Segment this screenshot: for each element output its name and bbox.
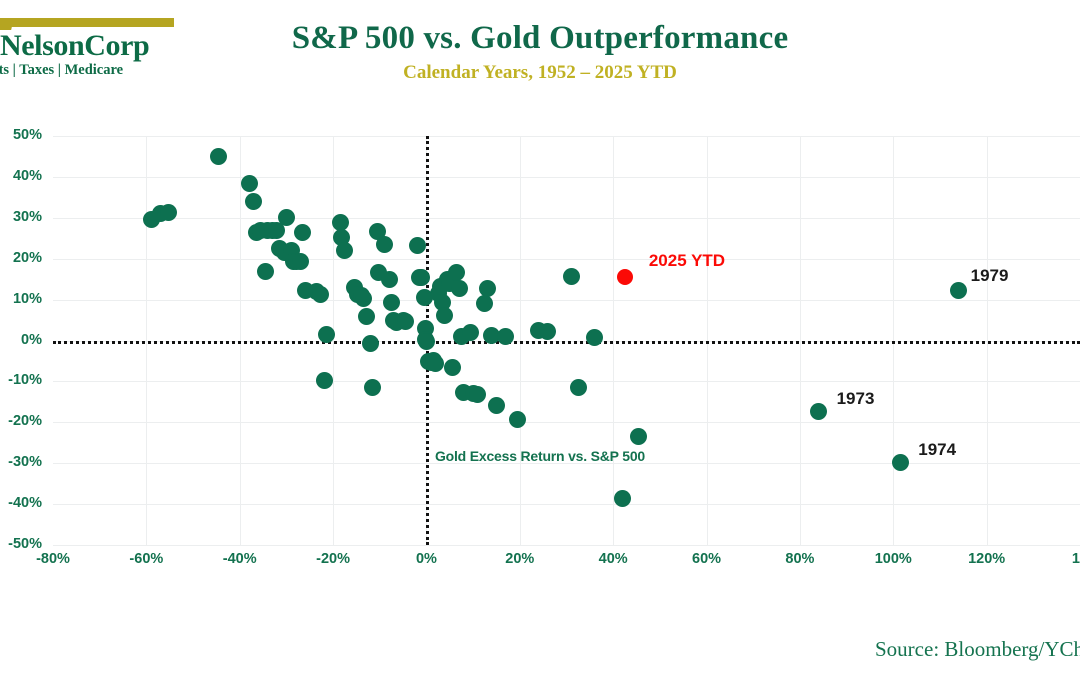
point-annotation-2025-ytd: 2025 YTD: [649, 251, 725, 271]
data-point[interactable]: [278, 209, 295, 226]
data-point[interactable]: [318, 326, 335, 343]
data-point[interactable]: [160, 204, 177, 221]
point-annotation-1979: 1979: [971, 266, 1009, 286]
gridline-horizontal: [53, 259, 1080, 260]
data-point[interactable]: [294, 224, 311, 241]
data-point-highlight[interactable]: [617, 269, 633, 285]
data-point[interactable]: [950, 282, 967, 299]
y-axis-tick-label: 10%: [0, 291, 42, 307]
data-point[interactable]: [509, 411, 526, 428]
data-point[interactable]: [364, 379, 381, 396]
chart-subtitle: Calendar Years, 1952 – 2025 YTD: [0, 62, 1080, 84]
x-axis-tick-label: 80%: [760, 551, 840, 567]
y-axis-tick-label: -50%: [0, 536, 42, 552]
y-axis-tick-label: -40%: [0, 495, 42, 511]
y-axis-tick-label: -10%: [0, 372, 42, 388]
y-axis-tick-label: 0%: [0, 332, 42, 348]
data-point[interactable]: [355, 290, 372, 307]
gridline-horizontal: [53, 136, 1080, 137]
data-point[interactable]: [245, 193, 262, 210]
data-point[interactable]: [336, 242, 353, 259]
data-point[interactable]: [451, 280, 468, 297]
data-point[interactable]: [488, 397, 505, 414]
data-point[interactable]: [427, 355, 444, 372]
data-point[interactable]: [810, 403, 827, 420]
data-point[interactable]: [376, 236, 393, 253]
data-point[interactable]: [418, 333, 435, 350]
x-axis-tick-label: -40%: [200, 551, 280, 567]
data-point[interactable]: [444, 359, 461, 376]
x-axis-tick-label: -20%: [293, 551, 373, 567]
gridline-horizontal: [53, 545, 1080, 546]
source-attribution: Source: Bloomberg/YCha: [875, 637, 1080, 662]
x-axis-tick-label: 120%: [947, 551, 1027, 567]
x-axis-tick-label: -80%: [13, 551, 93, 567]
data-point[interactable]: [381, 271, 398, 288]
data-point[interactable]: [409, 237, 426, 254]
gridline-horizontal: [53, 177, 1080, 178]
x-axis-tick-label: 20%: [480, 551, 560, 567]
data-point[interactable]: [436, 307, 453, 324]
y-axis-tick-label: 30%: [0, 209, 42, 225]
y-axis-tick-label: 20%: [0, 250, 42, 266]
gridline-horizontal: [53, 218, 1080, 219]
y-axis-tick-label: -20%: [0, 413, 42, 429]
x-axis-tick-label: 60%: [667, 551, 747, 567]
gridline-horizontal: [53, 504, 1080, 505]
data-point[interactable]: [358, 308, 375, 325]
data-point[interactable]: [448, 264, 465, 281]
x-axis-tick-label: 0%: [386, 551, 466, 567]
point-annotation-1973: 1973: [837, 389, 875, 409]
data-point[interactable]: [614, 490, 631, 507]
y-axis-tick-label: 40%: [0, 168, 42, 184]
gridline-horizontal: [53, 422, 1080, 423]
chart-title: S&P 500 vs. Gold Outperformance: [0, 20, 1080, 57]
data-point[interactable]: [292, 253, 309, 270]
x-axis-tick-label: 40%: [573, 551, 653, 567]
gridline-horizontal: [53, 381, 1080, 382]
data-point[interactable]: [476, 295, 493, 312]
x-axis-tick-label: 100%: [853, 551, 933, 567]
data-point[interactable]: [563, 268, 580, 285]
data-point[interactable]: [383, 294, 400, 311]
data-point[interactable]: [241, 175, 258, 192]
data-point[interactable]: [312, 286, 329, 303]
data-point[interactable]: [469, 386, 486, 403]
data-point[interactable]: [570, 379, 587, 396]
y-axis-tick-label: 50%: [0, 127, 42, 143]
x-axis-tick-label: -60%: [106, 551, 186, 567]
data-point[interactable]: [586, 329, 603, 346]
data-point[interactable]: [539, 323, 556, 340]
data-point[interactable]: [479, 280, 496, 297]
scatter-plot-area: 50%40%30%20%10%0%-10%-20%-30%-40%-50%-80…: [53, 136, 1080, 545]
data-point[interactable]: [397, 313, 414, 330]
x-axis-title: Gold Excess Return vs. S&P 500: [0, 448, 1080, 464]
gridline-horizontal: [53, 300, 1080, 301]
data-point[interactable]: [316, 372, 333, 389]
data-point[interactable]: [362, 335, 379, 352]
data-point[interactable]: [257, 263, 274, 280]
data-point[interactable]: [630, 428, 647, 445]
zero-line-horizontal: [53, 341, 1080, 344]
x-axis-tick-label: 14: [1040, 551, 1080, 567]
data-point[interactable]: [462, 324, 479, 341]
data-point[interactable]: [210, 148, 227, 165]
